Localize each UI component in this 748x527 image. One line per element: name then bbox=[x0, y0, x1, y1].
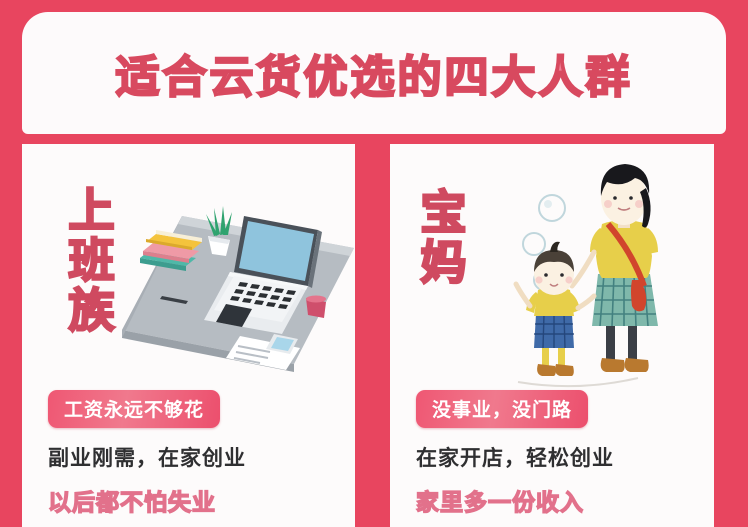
promo-poster: 适合云货优选的四大人群 上班族 bbox=[0, 0, 748, 527]
panel-divider bbox=[372, 134, 381, 527]
panel-stay-at-home-mom: 宝妈 bbox=[390, 144, 714, 527]
copy-block-office-worker: 工资永远不够花 副业刚需，在家创业 以后都不怕失业 bbox=[48, 390, 246, 517]
panel-label-stay-at-home-mom: 宝妈 bbox=[414, 188, 466, 288]
panel-office-worker: 上班族 bbox=[22, 144, 355, 527]
page-title: 适合云货优选的四大人群 bbox=[116, 41, 633, 105]
badge-stay-at-home-mom: 没事业，没门路 bbox=[416, 390, 588, 428]
panels-band: 上班族 bbox=[0, 134, 748, 527]
desk-laptop-illustration bbox=[122, 188, 354, 378]
badge-office-worker: 工资永远不够花 bbox=[48, 390, 220, 428]
line-dark-office-worker: 副业刚需，在家创业 bbox=[48, 442, 246, 472]
line-pink-office-worker: 以后都不怕失业 bbox=[48, 483, 246, 517]
title-card: 适合云货优选的四大人群 bbox=[22, 12, 726, 134]
copy-block-stay-at-home-mom: 没事业，没门路 在家开店，轻松创业 家里多一份收入 bbox=[416, 390, 614, 517]
line-pink-stay-at-home-mom: 家里多一份收入 bbox=[416, 483, 614, 517]
mother-and-child-illustration bbox=[500, 162, 705, 390]
panel-label-office-worker: 上班族 bbox=[62, 186, 114, 336]
line-dark-stay-at-home-mom: 在家开店，轻松创业 bbox=[416, 442, 614, 472]
